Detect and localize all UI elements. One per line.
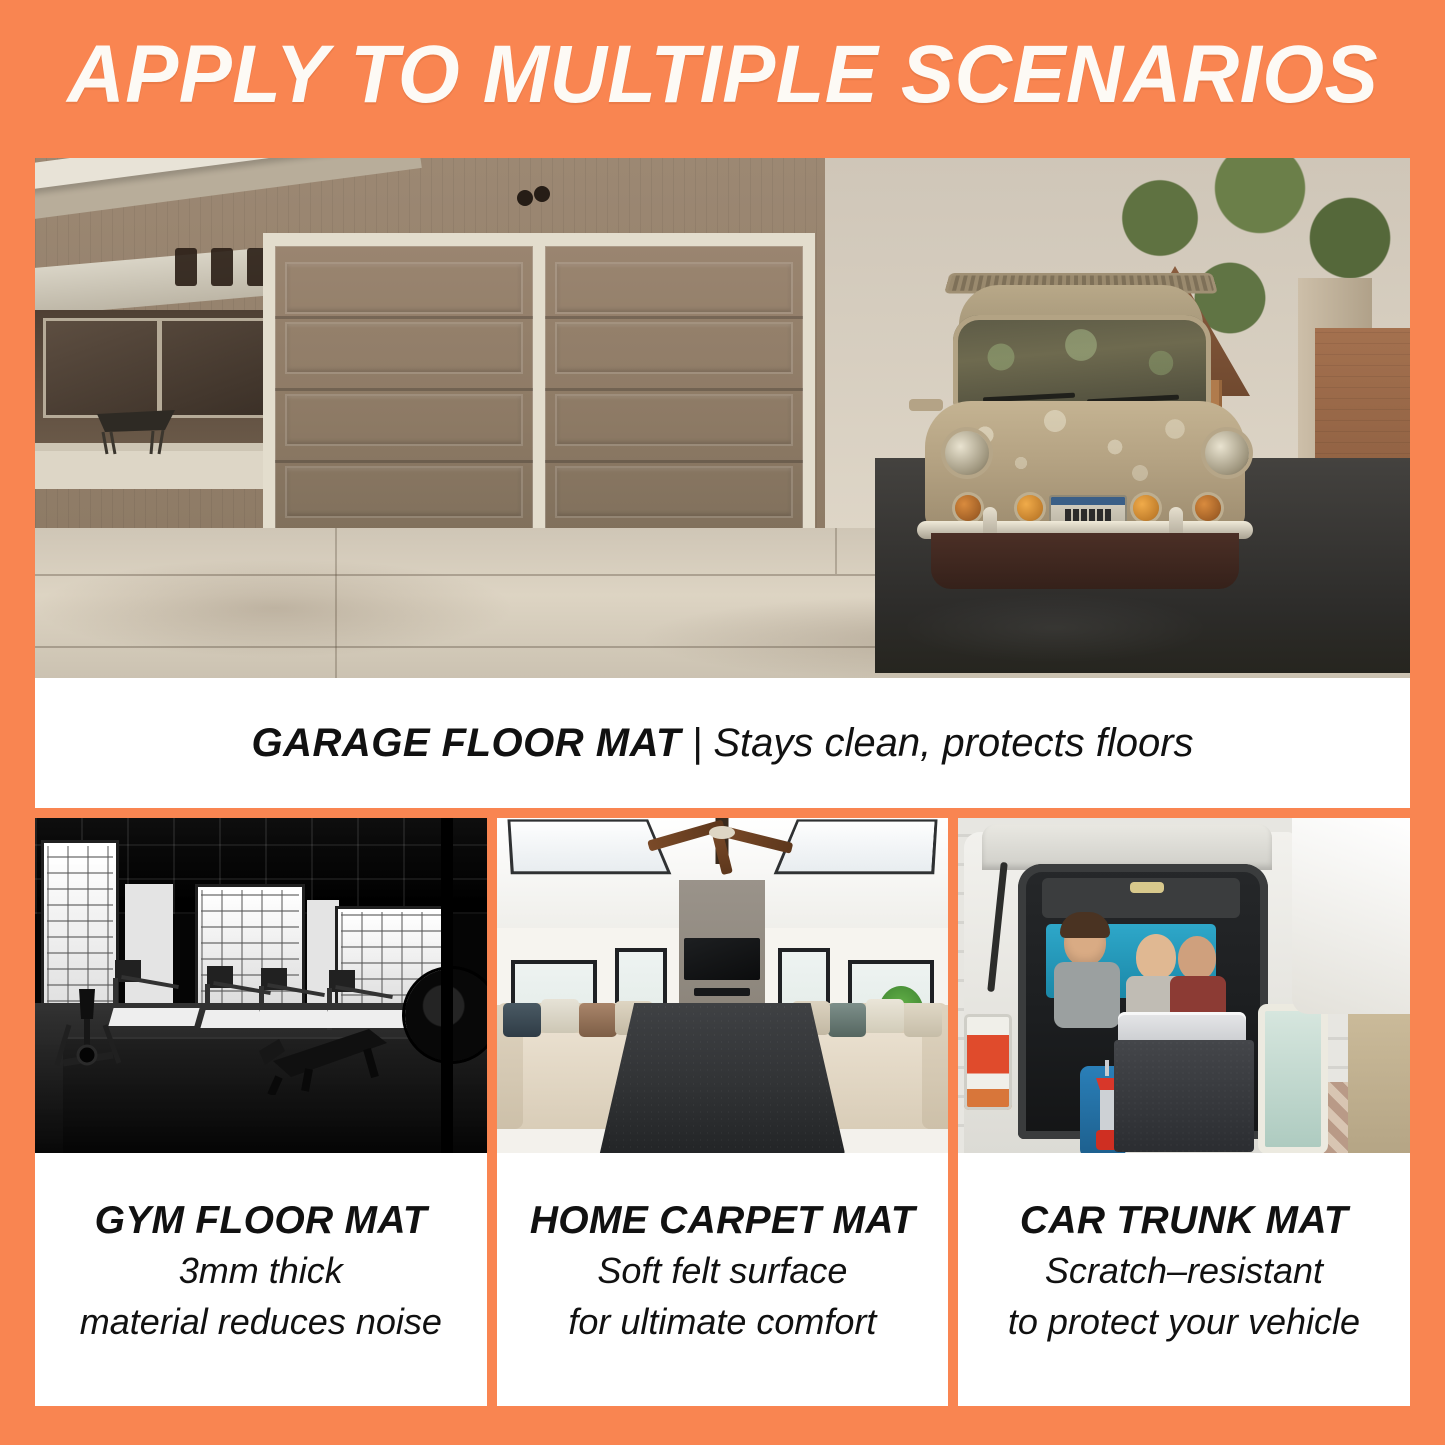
garage-door-left (275, 246, 533, 533)
car-marker-light-left (955, 495, 981, 521)
home-card-text: HOME CARPET MAT Soft felt surface for ul… (497, 1198, 949, 1346)
garage-door-right (545, 246, 803, 533)
car-trunk-mat (1114, 1040, 1254, 1152)
hero-caption-bar: GARAGE FLOOR MAT|Stays clean, protects f… (35, 678, 1410, 808)
exterior-flood-light (517, 186, 551, 212)
header-banner: APPLY TO MULTIPLE SCENARIOS (0, 0, 1445, 150)
home-card-title: HOME CARPET MAT (511, 1198, 935, 1244)
child-passenger (1052, 918, 1122, 1028)
car-side-mirror (909, 399, 943, 411)
suv-tail-light (964, 1014, 1012, 1110)
treadmill-4 (325, 970, 411, 1028)
squat-rack-post (441, 818, 453, 1153)
infographic-page: APPLY TO MULTIPLE SCENARIOS (0, 0, 1445, 1445)
skylight-left (507, 819, 671, 874)
window-mullion (157, 318, 162, 418)
adult-standing-legs (1348, 996, 1410, 1153)
wall-mounted-tv (684, 938, 760, 980)
patio-chair (93, 404, 179, 456)
car-trunk-photo (958, 818, 1410, 1153)
gym-photo (35, 818, 487, 1153)
trunk-card-title: CAR TRUNK MAT (972, 1198, 1396, 1244)
page-title: APPLY TO MULTIPLE SCENARIOS (67, 28, 1378, 122)
hero-image-garage-scene (35, 158, 1410, 678)
soundbar (694, 988, 750, 996)
car-headlight-right (1205, 431, 1249, 475)
home-card-desc-line1: Soft felt surface (511, 1248, 935, 1295)
car-headlight-left (945, 431, 989, 475)
hero-caption-description: Stays clean, protects floors (713, 721, 1193, 765)
address-digit (211, 248, 233, 286)
weight-bench (249, 1021, 399, 1095)
gym-card-title: GYM FLOOR MAT (49, 1198, 473, 1244)
treadmill-1 (111, 960, 197, 1026)
trunk-card-text: CAR TRUNK MAT Scratch–resistant to prote… (958, 1198, 1410, 1346)
card-home-carpet-mat: HOME CARPET MAT Soft felt surface for ul… (497, 818, 949, 1406)
car-turn-signal-left (1017, 495, 1043, 521)
dome-light (1130, 882, 1164, 893)
home-carpet-mat (600, 1003, 845, 1153)
hero-caption-separator: | (692, 721, 702, 765)
car-turn-signal-right (1133, 495, 1159, 521)
hero-caption-line: GARAGE FLOOR MAT|Stays clean, protects f… (251, 721, 1193, 766)
card-gym-floor-mat: GYM FLOOR MAT 3mm thick material reduces… (35, 818, 487, 1406)
home-card-desc-line2: for ultimate comfort (511, 1299, 935, 1346)
trunk-card-desc-line1: Scratch–resistant (972, 1248, 1396, 1295)
vintage-car (905, 233, 1295, 573)
living-room-photo (497, 818, 949, 1153)
scenario-cards: GYM FLOOR MAT 3mm thick material reduces… (35, 818, 1410, 1406)
vintage-suitcase (1258, 1004, 1328, 1153)
cargo-area (1018, 864, 1268, 1139)
adult-white-shirt (1292, 818, 1410, 1014)
car-lower-valance (931, 533, 1239, 589)
card-car-trunk-mat: CAR TRUNK MAT Scratch–resistant to prote… (958, 818, 1410, 1406)
gym-card-text: GYM FLOOR MAT 3mm thick material reduces… (35, 1198, 487, 1346)
gym-card-desc-line1: 3mm thick (49, 1248, 473, 1295)
hero-caption-title: GARAGE FLOOR MAT (251, 721, 680, 765)
garage-door-frame (263, 233, 815, 533)
trunk-card-desc-line2: to protect your vehicle (972, 1299, 1396, 1346)
car-marker-light-right (1195, 495, 1221, 521)
gym-card-desc-line2: material reduces noise (49, 1299, 473, 1346)
porch-floor (35, 451, 297, 489)
skylight-right (774, 819, 938, 874)
address-digit (175, 248, 197, 286)
